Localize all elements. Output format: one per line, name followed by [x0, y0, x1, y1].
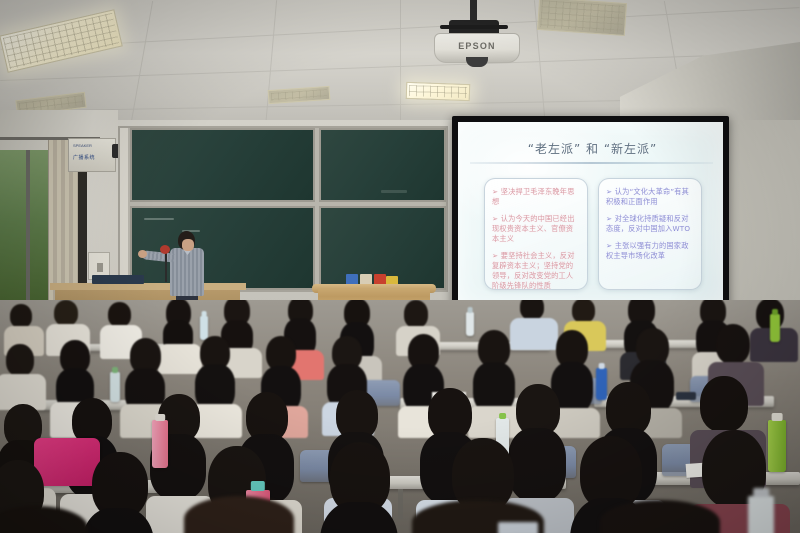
- clear-water-bottle: [748, 496, 774, 533]
- desk-leg: [398, 489, 403, 519]
- desk-equipment: [92, 275, 144, 284]
- blackboard-panel: [130, 128, 315, 202]
- speaker-bottom-label: 广播系统: [73, 154, 95, 161]
- slide-title-underline: [470, 162, 713, 164]
- slide-title: “老左派” 和 “新左派”: [472, 140, 713, 157]
- green-water-bottle: [768, 420, 786, 472]
- new-leftists-box: ➢ 认为“文化大革命”有其积极和正面作用 ➢ 对全球化持质疑和反对态度，反对中国…: [598, 178, 702, 290]
- slide-bullet: ➢ 对全球化持质疑和反对态度，反对中国加入WTO: [606, 214, 694, 234]
- pink-thermos: [152, 420, 168, 468]
- presentation-slide: “老左派” 和 “新左派” ➢ 坚决捍卫毛泽东晚年思想 ➢ 认为今天的中国已经出…: [458, 122, 723, 306]
- smartphone: [676, 392, 696, 400]
- blue-water-bottle: [596, 368, 607, 400]
- slide-bullet: ➢ 认为“文化大革命”有其积极和正面作用: [606, 187, 694, 207]
- clear-water-bottle: [200, 316, 208, 340]
- microphone-icon: [160, 245, 170, 254]
- microphone-stand: [165, 252, 167, 282]
- slide-bullet: ➢ 坚决捍卫毛泽东晚年思想: [492, 187, 580, 207]
- clear-water-bottle: [466, 312, 474, 336]
- blackboard-panel: [319, 128, 446, 202]
- audience-area: [0, 300, 800, 533]
- blackboard-side-rail: [120, 128, 128, 290]
- blackboard-panel: [130, 206, 315, 290]
- projector-brand-label: EPSON: [435, 41, 519, 51]
- classroom-photo: EPSON SPEAKER 广播系统 “老左派” 和 “新左派” ➢ 坚决捍卫毛…: [0, 0, 800, 533]
- lecturer-hand: [138, 250, 147, 258]
- projector-pole: [470, 0, 477, 22]
- wall-speaker-box: SPEAKER 广播系统: [68, 138, 116, 172]
- speaker-top-label: SPEAKER: [73, 143, 92, 148]
- old-leftists-box: ➢ 坚决捍卫毛泽东晚年思想 ➢ 认为今天的中国已经出现权贵资本主义、官僚资本主义…: [484, 178, 588, 290]
- slide-bullet: ➢ 认为今天的中国已经出现权贵资本主义、官僚资本主义: [492, 214, 580, 244]
- pink-backpack: [34, 438, 100, 486]
- slide-bullet: ➢ 要坚持社会主义，反对复辟资本主义；坚持党的领导，反对改变党的工人阶级先锋队的…: [492, 251, 580, 291]
- clear-water-bottle: [110, 372, 120, 402]
- green-water-bottle: [770, 314, 780, 342]
- lecturer-face: [182, 239, 194, 251]
- projector-body: EPSON: [434, 33, 520, 63]
- ceiling-light-panel: [537, 0, 627, 36]
- smartphone: [498, 522, 538, 533]
- ceiling-light-panel: [406, 82, 471, 101]
- teacher-desk-top: [50, 283, 246, 290]
- slide-bullet: ➢ 主张以强有力的国家政权主导市场化改革: [606, 241, 694, 261]
